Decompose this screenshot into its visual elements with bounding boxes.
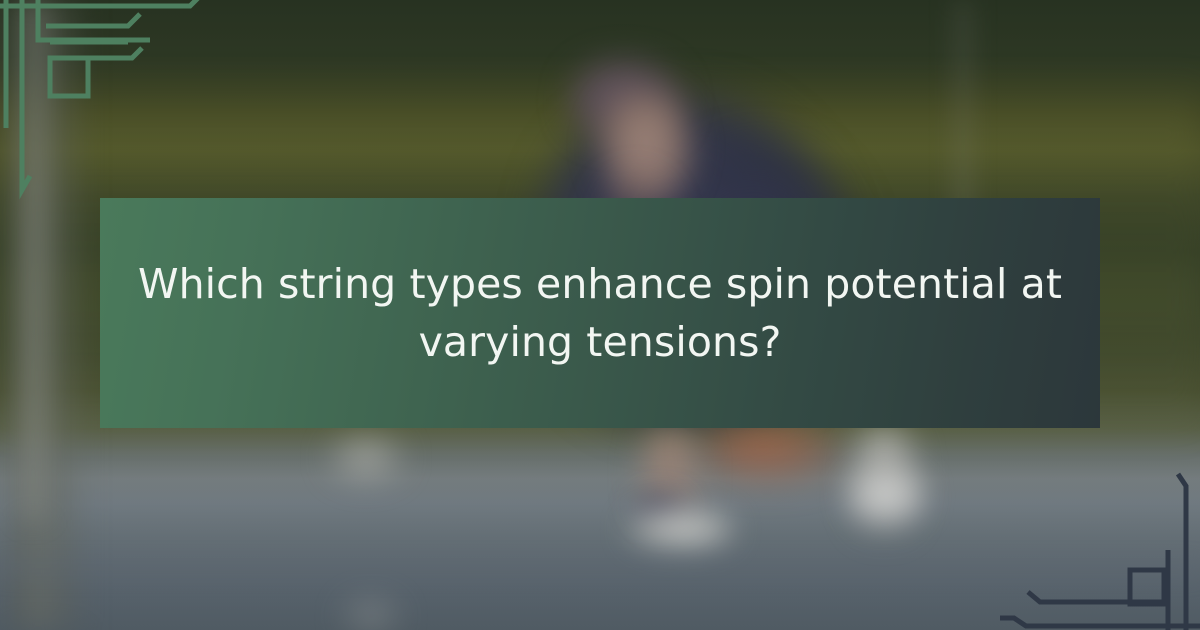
corner-bracket-top-left xyxy=(0,0,210,200)
corner-bracket-bottom-right xyxy=(1000,440,1200,630)
background-player-leg-left xyxy=(644,430,696,530)
background-player-leg-right xyxy=(856,430,912,540)
background-player-face xyxy=(600,92,692,202)
background-player-shoe-right xyxy=(846,468,926,524)
background-player-shorts xyxy=(700,420,840,480)
background-tennis-ball-secondary xyxy=(336,596,406,630)
question-text: Which string types enhance spin potentia… xyxy=(134,255,1066,371)
background-tennis-ball xyxy=(330,436,402,480)
question-card: Which string types enhance spin potentia… xyxy=(0,0,1200,630)
background-player-shoe-left xyxy=(628,508,732,550)
question-banner: Which string types enhance spin potentia… xyxy=(100,198,1100,428)
background-player-ankle-left xyxy=(628,490,692,524)
background-player-cap xyxy=(570,58,682,140)
